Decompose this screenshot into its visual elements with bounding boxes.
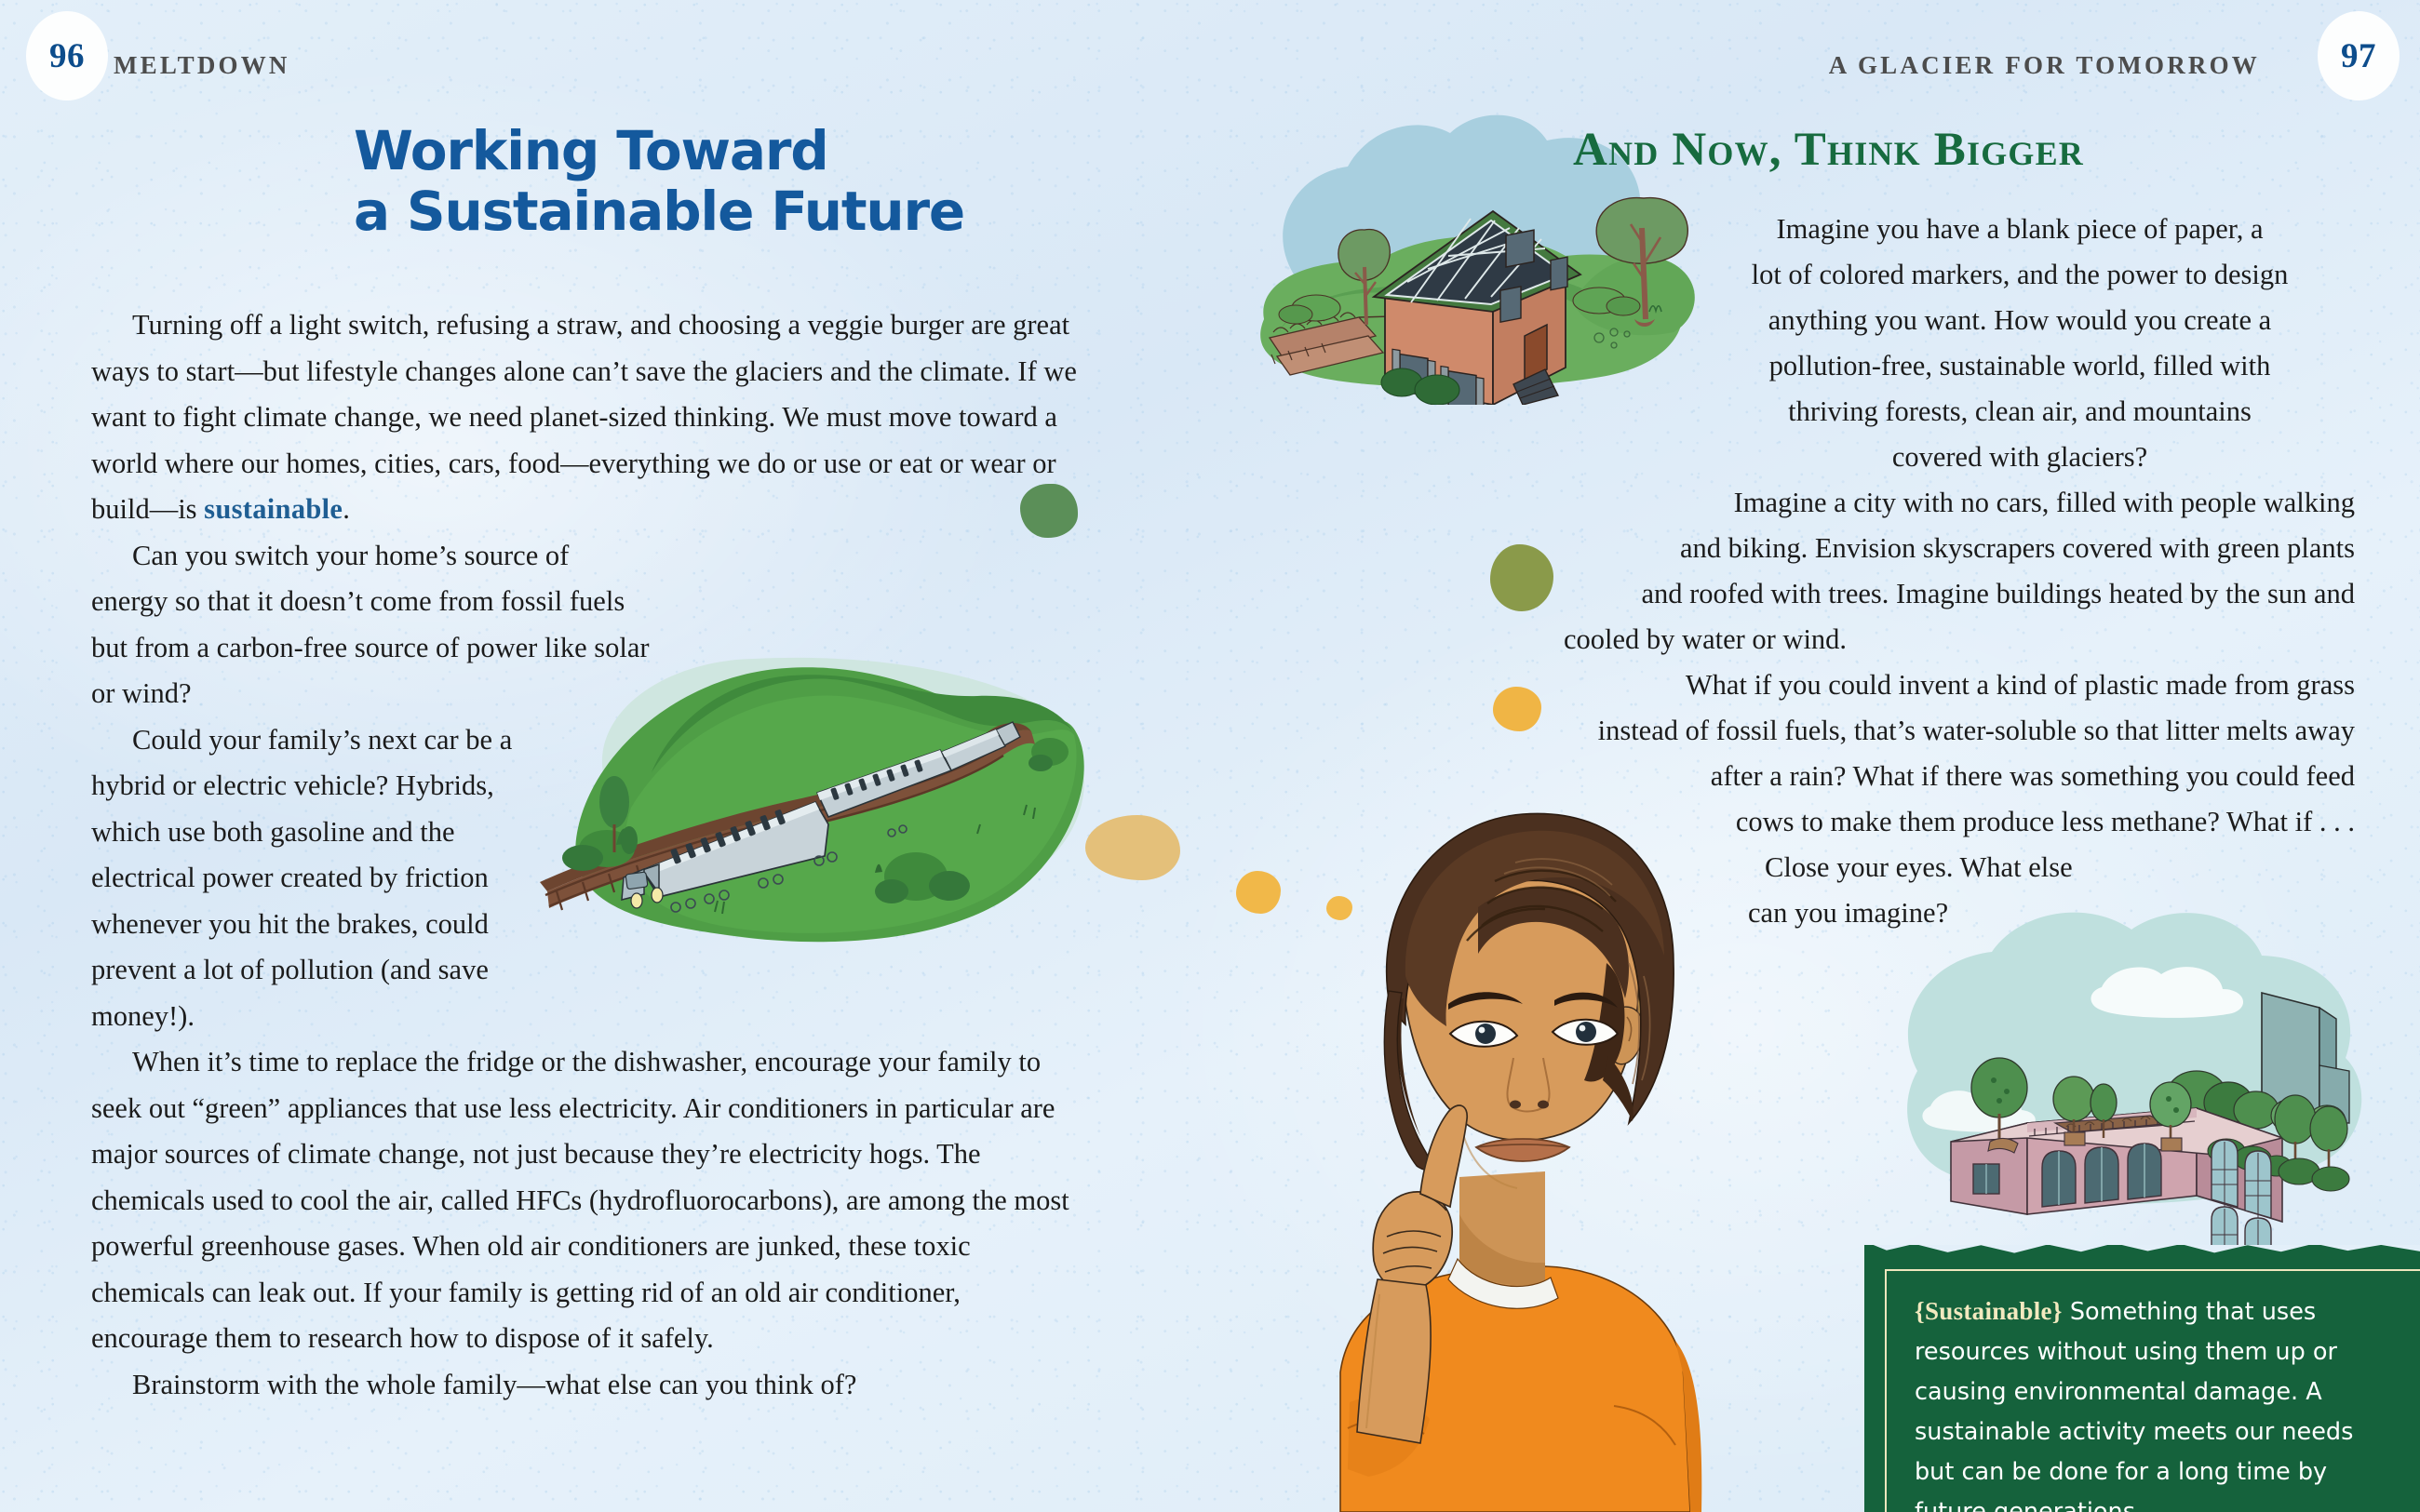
line: Close your eyes. What else [1765, 851, 2073, 883]
line: instead of fossil fuels, that’s water-so… [1598, 715, 2355, 746]
paragraph-3: Could your family’s next car be a hybrid… [91, 717, 529, 1040]
line: thriving forests, clean air, and mountai… [1788, 395, 2252, 427]
folio-right: 97 [2318, 11, 2400, 100]
right-page-title: And Now, Think Bigger [1573, 123, 2084, 177]
running-head-left: MELTDOWN [114, 51, 290, 80]
paragraph-2-text: Can you switch your home’s source of ene… [91, 540, 650, 710]
line: can you imagine? [1748, 897, 1948, 929]
definition-text-block: {Sustainable} Something that uses resour… [1885, 1269, 2420, 1512]
line: and roofed with trees. Imagine buildings… [1641, 578, 2355, 609]
thinking-girl-illustration [1238, 777, 1759, 1512]
line: cooled by water or wind. [1564, 617, 1847, 662]
paragraph-4-text: When it’s time to replace the fridge or … [91, 1046, 1069, 1354]
paragraph-4: When it’s time to replace the fridge or … [91, 1039, 1078, 1362]
paragraph-1-tail: . [343, 493, 350, 525]
gold-blob-1 [1493, 687, 1541, 731]
paragraph-2: Can you switch your home’s source of ene… [91, 533, 650, 717]
running-head-right: A GLACIER FOR TOMORROW [1829, 51, 2260, 80]
keyword-sustainable: sustainable [204, 493, 343, 525]
right-paragraph-4: Close your eyes. What else can you imagi… [1731, 845, 2252, 936]
paragraph-5: Brainstorm with the whole family—what el… [91, 1362, 1078, 1409]
left-page-title: Working Toward a Sustainable Future [354, 121, 1005, 242]
line: pollution-free, sustainable world, fille… [1769, 350, 2271, 381]
line: anything you want. How would you create … [1768, 304, 2271, 336]
right-paragraph-1: Imagine you have a blank piece of paper,… [1685, 207, 2355, 480]
folio-left: 96 [26, 11, 108, 100]
paragraph-5-text: Brainstorm with the whole family—what el… [132, 1369, 856, 1400]
definition-term: {Sustainable} [1915, 1297, 2063, 1325]
line: covered with glaciers? [1892, 441, 2147, 473]
left-page-body: Turning off a light switch, refusing a s… [91, 302, 1078, 1408]
paragraph-1: Turning off a light switch, refusing a s… [91, 302, 1078, 533]
line: and biking. Envision skyscrapers covered… [1680, 532, 2355, 564]
right-paragraph-2: Imagine a city with no cars, filled with… [1564, 480, 2355, 617]
sustainable-definition-box: {Sustainable} Something that uses resour… [1864, 1245, 2420, 1512]
paragraph-3-text: Could your family’s next car be a hybrid… [91, 724, 512, 1032]
green-roof-city-illustration [1862, 889, 2401, 1261]
line: lot of colored markers, and the power to… [1752, 259, 2289, 290]
line: Imagine you have a blank piece of paper,… [1777, 213, 2264, 245]
left-title-line-2: a Sustainable Future [354, 181, 1005, 242]
line: Imagine a city with no cars, filled with… [1734, 487, 2355, 518]
left-title-line-1: Working Toward [354, 121, 1005, 181]
line: cows to make them produce less methane? … [1736, 806, 2355, 837]
line: after a rain? What if there was somethin… [1711, 760, 2355, 792]
line: What if you could invent a kind of plast… [1686, 669, 2355, 701]
definition-body: Something that uses resources without us… [1915, 1298, 2353, 1512]
book-spread: 96 MELTDOWN A GLACIER FOR TOMORROW 97 Wo… [0, 0, 2420, 1512]
olive-blob [1490, 544, 1553, 611]
